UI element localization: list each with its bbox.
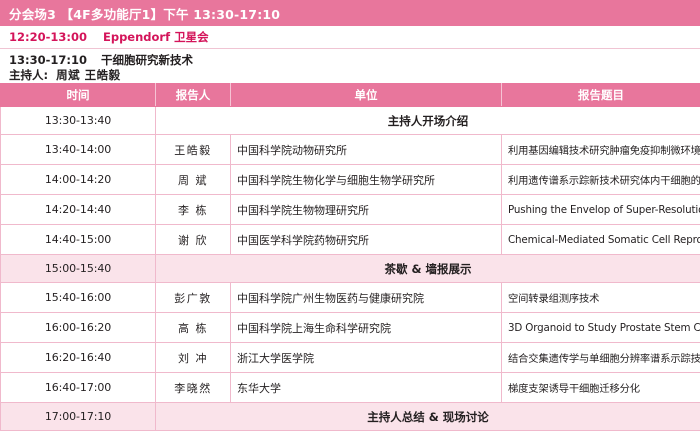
schedule-table-head: 时间 报告人 单位 报告题目 <box>1 84 700 107</box>
cell-time: 14:20-14:40 <box>1 195 156 225</box>
session-banner: 分会场3 【4F多功能厅1】下午 13:30-17:10 <box>0 0 700 26</box>
session-chair-label: 主持人: <box>9 68 48 83</box>
table-row: 16:00-16:20高 栋中国科学院上海生命科学研究院3D Organoid … <box>1 313 700 343</box>
session-banner-title: 分会场3 【4F多功能厅1】下午 13:30-17:10 <box>9 4 280 23</box>
cell-time: 17:00-17:10 <box>1 403 156 431</box>
cell-speaker: 彭广敦 <box>156 283 231 313</box>
session-topic: 干细胞研究新技术 <box>101 53 193 68</box>
cell-time: 15:00-15:40 <box>1 255 156 283</box>
table-row: 13:30-13:40主持人开场介绍 <box>1 107 700 135</box>
session-topic-line: 13:30-17:10 干细胞研究新技术 <box>9 53 700 68</box>
cell-speaker: 谢 欣 <box>156 225 231 255</box>
cell-time: 16:20-16:40 <box>1 343 156 373</box>
cell-span-note: 主持人开场介绍 <box>156 107 700 135</box>
cell-organization: 浙江大学医学院 <box>231 343 502 373</box>
table-row: 13:40-14:00王皓毅中国科学院动物研究所利用基因编辑技术研究肿瘤免疫抑制… <box>1 135 700 165</box>
table-row: 15:00-15:40茶歇 & 墙报展示 <box>1 255 700 283</box>
table-header-row: 时间 报告人 单位 报告题目 <box>1 84 700 107</box>
satellite-session-title: Eppendorf 卫星会 <box>103 29 209 45</box>
header-title: 报告题目 <box>502 84 700 107</box>
cell-talk-title: 利用基因编辑技术研究肿瘤免疫抑制微环境和X染色体失活 <box>502 135 700 165</box>
cell-organization: 中国科学院动物研究所 <box>231 135 502 165</box>
header-organization: 单位 <box>231 84 502 107</box>
cell-organization: 中国科学院上海生命科学研究院 <box>231 313 502 343</box>
schedule-table-body: 13:30-13:40主持人开场介绍13:40-14:00王皓毅中国科学院动物研… <box>1 107 700 431</box>
cell-time: 14:40-15:00 <box>1 225 156 255</box>
cell-organization: 中国医学科学院药物研究所 <box>231 225 502 255</box>
cell-speaker: 李 栋 <box>156 195 231 225</box>
cell-talk-title: Chemical-Mediated Somatic Cell Reprogram… <box>502 225 700 255</box>
cell-talk-title: 利用遗传谱系示踪新技术研究体内干细胞的起源及命运 <box>502 165 700 195</box>
satellite-session-time: 12:20-13:00 <box>9 30 87 44</box>
cell-time: 15:40-16:00 <box>1 283 156 313</box>
cell-speaker: 王皓毅 <box>156 135 231 165</box>
cell-speaker: 高 栋 <box>156 313 231 343</box>
conference-schedule-page: 分会场3 【4F多功能厅1】下午 13:30-17:10 12:20-13:00… <box>0 0 700 416</box>
table-row: 14:00-14:20周 斌中国科学院生物化学与细胞生物学研究所利用遗传谱系示踪… <box>1 165 700 195</box>
session-chair-names: 周斌 王皓毅 <box>56 68 121 83</box>
cell-talk-title: 结合交集遗传学与单细胞分辨率谱系示踪技术解析胶质瘤干细胞起源与演化路径 <box>502 343 700 373</box>
table-row: 17:00-17:10主持人总结 & 现场讨论 <box>1 403 700 431</box>
cell-talk-title: 梯度支架诱导干细胞迁移分化 <box>502 373 700 403</box>
cell-organization: 中国科学院生物物理研究所 <box>231 195 502 225</box>
table-row: 16:40-17:00李晓然东华大学梯度支架诱导干细胞迁移分化 <box>1 373 700 403</box>
cell-talk-title: 3D Organoid to Study Prostate Stem Cell … <box>502 313 700 343</box>
session-info: 13:30-17:10 干细胞研究新技术 主持人: 周斌 王皓毅 <box>0 49 700 83</box>
cell-time: 14:00-14:20 <box>1 165 156 195</box>
cell-span-note: 主持人总结 & 现场讨论 <box>156 403 700 431</box>
table-row: 15:40-16:00彭广敦中国科学院广州生物医药与健康研究院空间转录组测序技术 <box>1 283 700 313</box>
header-speaker: 报告人 <box>156 84 231 107</box>
table-row: 14:40-15:00谢 欣中国医学科学院药物研究所Chemical-Media… <box>1 225 700 255</box>
cell-speaker: 周 斌 <box>156 165 231 195</box>
session-time: 13:30-17:10 <box>9 53 87 68</box>
cell-organization: 中国科学院广州生物医药与健康研究院 <box>231 283 502 313</box>
cell-speaker: 刘 冲 <box>156 343 231 373</box>
cell-speaker: 李晓然 <box>156 373 231 403</box>
cell-time: 13:40-14:00 <box>1 135 156 165</box>
session-chair-line: 主持人: 周斌 王皓毅 <box>9 68 700 83</box>
table-row: 16:20-16:40刘 冲浙江大学医学院结合交集遗传学与单细胞分辨率谱系示踪技… <box>1 343 700 373</box>
cell-time: 13:30-13:40 <box>1 107 156 135</box>
cell-span-note: 茶歇 & 墙报展示 <box>156 255 700 283</box>
header-time: 时间 <box>1 84 156 107</box>
cell-talk-title: Pushing the Envelop of Super-Resolution … <box>502 195 700 225</box>
cell-talk-title: 空间转录组测序技术 <box>502 283 700 313</box>
cell-organization: 中国科学院生物化学与细胞生物学研究所 <box>231 165 502 195</box>
table-row: 14:20-14:40李 栋中国科学院生物物理研究所Pushing the En… <box>1 195 700 225</box>
schedule-table: 时间 报告人 单位 报告题目 13:30-13:40主持人开场介绍13:40-1… <box>0 83 700 431</box>
satellite-session-row: 12:20-13:00 Eppendorf 卫星会 <box>0 26 700 49</box>
cell-time: 16:00-16:20 <box>1 313 156 343</box>
cell-organization: 东华大学 <box>231 373 502 403</box>
cell-time: 16:40-17:00 <box>1 373 156 403</box>
